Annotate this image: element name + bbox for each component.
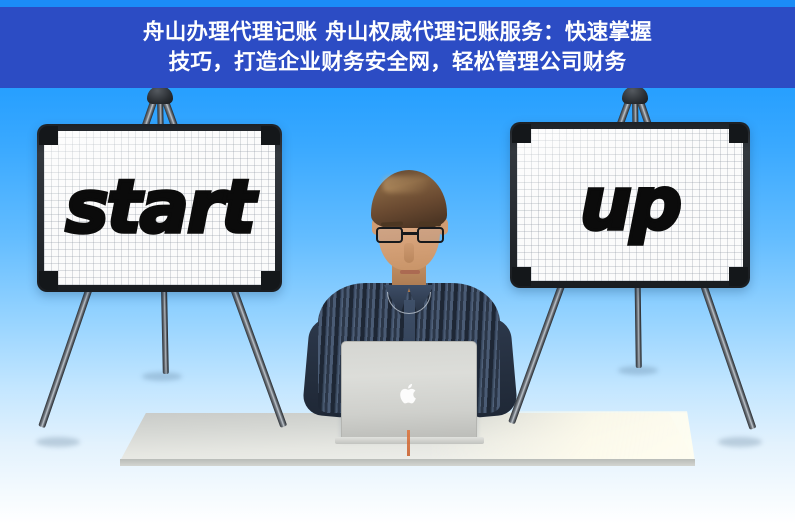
person-nose <box>404 243 414 263</box>
laptop[interactable] <box>341 341 477 439</box>
glasses-icon <box>376 227 444 244</box>
apple-logo-icon <box>399 382 419 406</box>
top-accent-strip <box>0 0 795 7</box>
screenshot-root: start up <box>0 0 795 524</box>
headline-line-1: 舟山办理代理记账 舟山权威代理记账服务：快速掌握 <box>143 18 652 48</box>
headline-line-2: 技巧，打造企业财务安全网，轻松管理公司财务 <box>169 48 627 78</box>
laptop-cable <box>407 430 410 456</box>
person-mouth <box>400 270 420 274</box>
person-hair-highlight <box>382 176 428 193</box>
glasses-lens-right <box>417 227 444 243</box>
glasses-lens-left <box>376 227 403 243</box>
headline-banner: 舟山办理代理记账 舟山权威代理记账服务：快速掌握 技巧，打造企业财务安全网，轻松… <box>0 7 795 88</box>
glasses-bridge <box>403 232 417 235</box>
